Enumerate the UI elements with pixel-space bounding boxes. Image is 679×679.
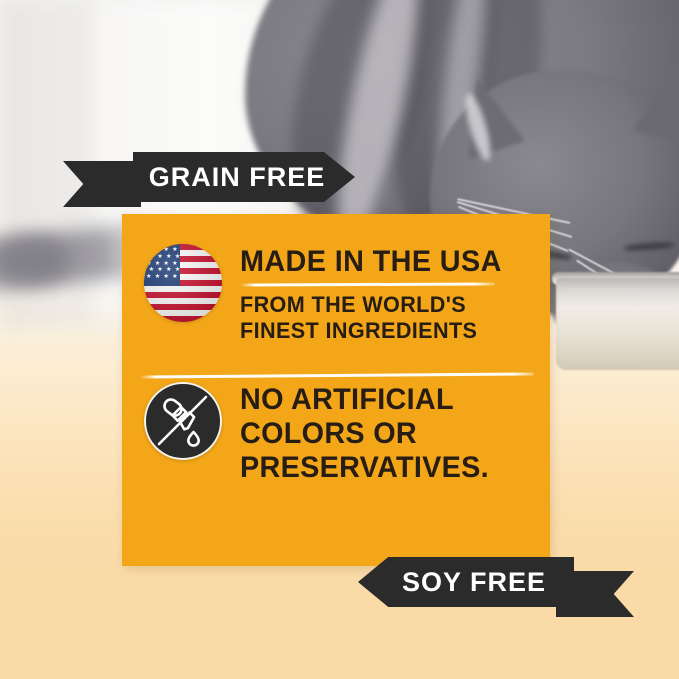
feature-made-in-usa-text: MADE IN THE USA FROM THE WORLD'S FINEST … <box>240 244 532 344</box>
promo-image: GRAIN FREE ★ ★ ★ ★ ★ ★ ★ ★ ★ ★ ★ ★ ★ ★ ★… <box>0 0 679 679</box>
usa-flag-icon: ★ ★ ★ ★ ★ ★ ★ ★ ★ ★ ★ ★ ★ ★ ★ ★ ★ ★ ★ ★ … <box>144 244 222 322</box>
made-in-usa-subline-2: FINEST INGREDIENTS <box>240 318 520 344</box>
banner-grain-free-label: GRAIN FREE <box>133 152 355 202</box>
flag-shading <box>144 244 222 322</box>
no-dropper-circle <box>144 382 222 460</box>
no-artificial-line-2: COLORS OR <box>240 417 520 451</box>
banner-soy-free: SOY FREE <box>358 557 574 607</box>
ribbon-tail-icon <box>63 161 141 207</box>
dropper-glyph <box>146 384 220 458</box>
feature-card: ★ ★ ★ ★ ★ ★ ★ ★ ★ ★ ★ ★ ★ ★ ★ ★ ★ ★ ★ ★ … <box>122 214 550 566</box>
divider-small <box>240 282 495 286</box>
no-artificial-line-1: NO ARTIFICIAL <box>240 383 520 417</box>
banner-grain-free: GRAIN FREE <box>63 152 355 202</box>
banner-soy-free-label: SOY FREE <box>358 557 574 607</box>
made-in-usa-subline-1: FROM THE WORLD'S <box>240 292 520 318</box>
feature-made-in-usa: ★ ★ ★ ★ ★ ★ ★ ★ ★ ★ ★ ★ ★ ★ ★ ★ ★ ★ ★ ★ … <box>144 244 532 344</box>
divider-wide <box>140 372 534 378</box>
feature-no-artificial: NO ARTIFICIAL COLORS OR PRESERVATIVES. <box>144 382 532 485</box>
feature-no-artificial-text: NO ARTIFICIAL COLORS OR PRESERVATIVES. <box>240 382 532 485</box>
no-dropper-icon <box>144 382 222 460</box>
made-in-usa-headline: MADE IN THE USA <box>240 245 520 278</box>
no-artificial-line-3: PRESERVATIVES. <box>240 451 520 485</box>
